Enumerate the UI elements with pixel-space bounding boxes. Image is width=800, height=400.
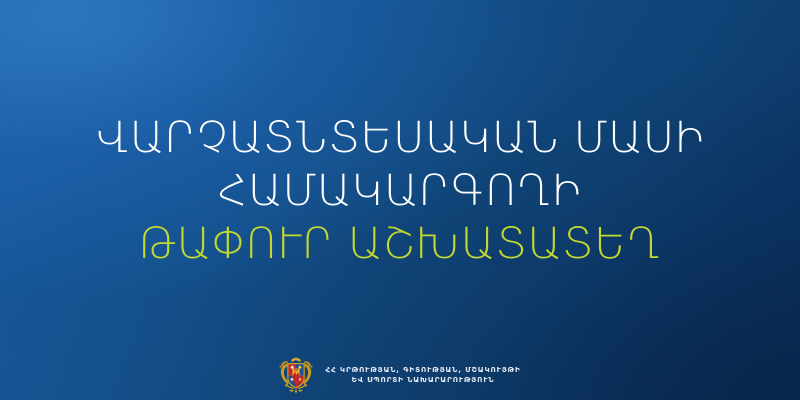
headline-line-3: ԹԱՓՈՒՐ ԱՇԽԱՏԱՏԵՂ (0, 218, 800, 271)
ministry-name-line-1: ՀՀ ԿՐԹՈՒԹՅԱՆ, ԳԻՏՈՒԹՅԱՆ, ՄՇԱԿՈՒՅԹԻ (325, 365, 520, 376)
ministry-name: ՀՀ ԿՐԹՈՒԹՅԱՆ, ԳԻՏՈՒԹՅԱՆ, ՄՇԱԿՈՒՅԹԻ ԵՎ ՍՊ… (325, 365, 520, 386)
headline-block: ՎԱՐՉԱՏՆՏԵՍԱԿԱՆ ՄԱՍԻ ՀԱՄԱԿԱՐԳՈՂԻ ԹԱՓՈՒՐ Ա… (0, 112, 800, 271)
ministry-lockup: ՀՀ ԿՐԹՈՒԹՅԱՆ, ԳԻՏՈՒԹՅԱՆ, ՄՇԱԿՈՒՅԹԻ ԵՎ ՍՊ… (0, 356, 800, 394)
headline-line-2: ՀԱՄԱԿԱՐԳՈՂԻ (0, 165, 800, 218)
headline-line-1: ՎԱՐՉԱՏՆՏԵՍԱԿԱՆ ՄԱՍԻ (0, 112, 800, 165)
armenia-coat-of-arms-icon (279, 356, 313, 394)
ministry-name-line-2: ԵՎ ՍՊՈՐՏԻ ՆԱԽԱՐԱՐՈՒԹՅՈՒՆ (325, 375, 520, 386)
announcement-slide: ՎԱՐՉԱՏՆՏԵՍԱԿԱՆ ՄԱՍԻ ՀԱՄԱԿԱՐԳՈՂԻ ԹԱՓՈՒՐ Ա… (0, 0, 800, 400)
